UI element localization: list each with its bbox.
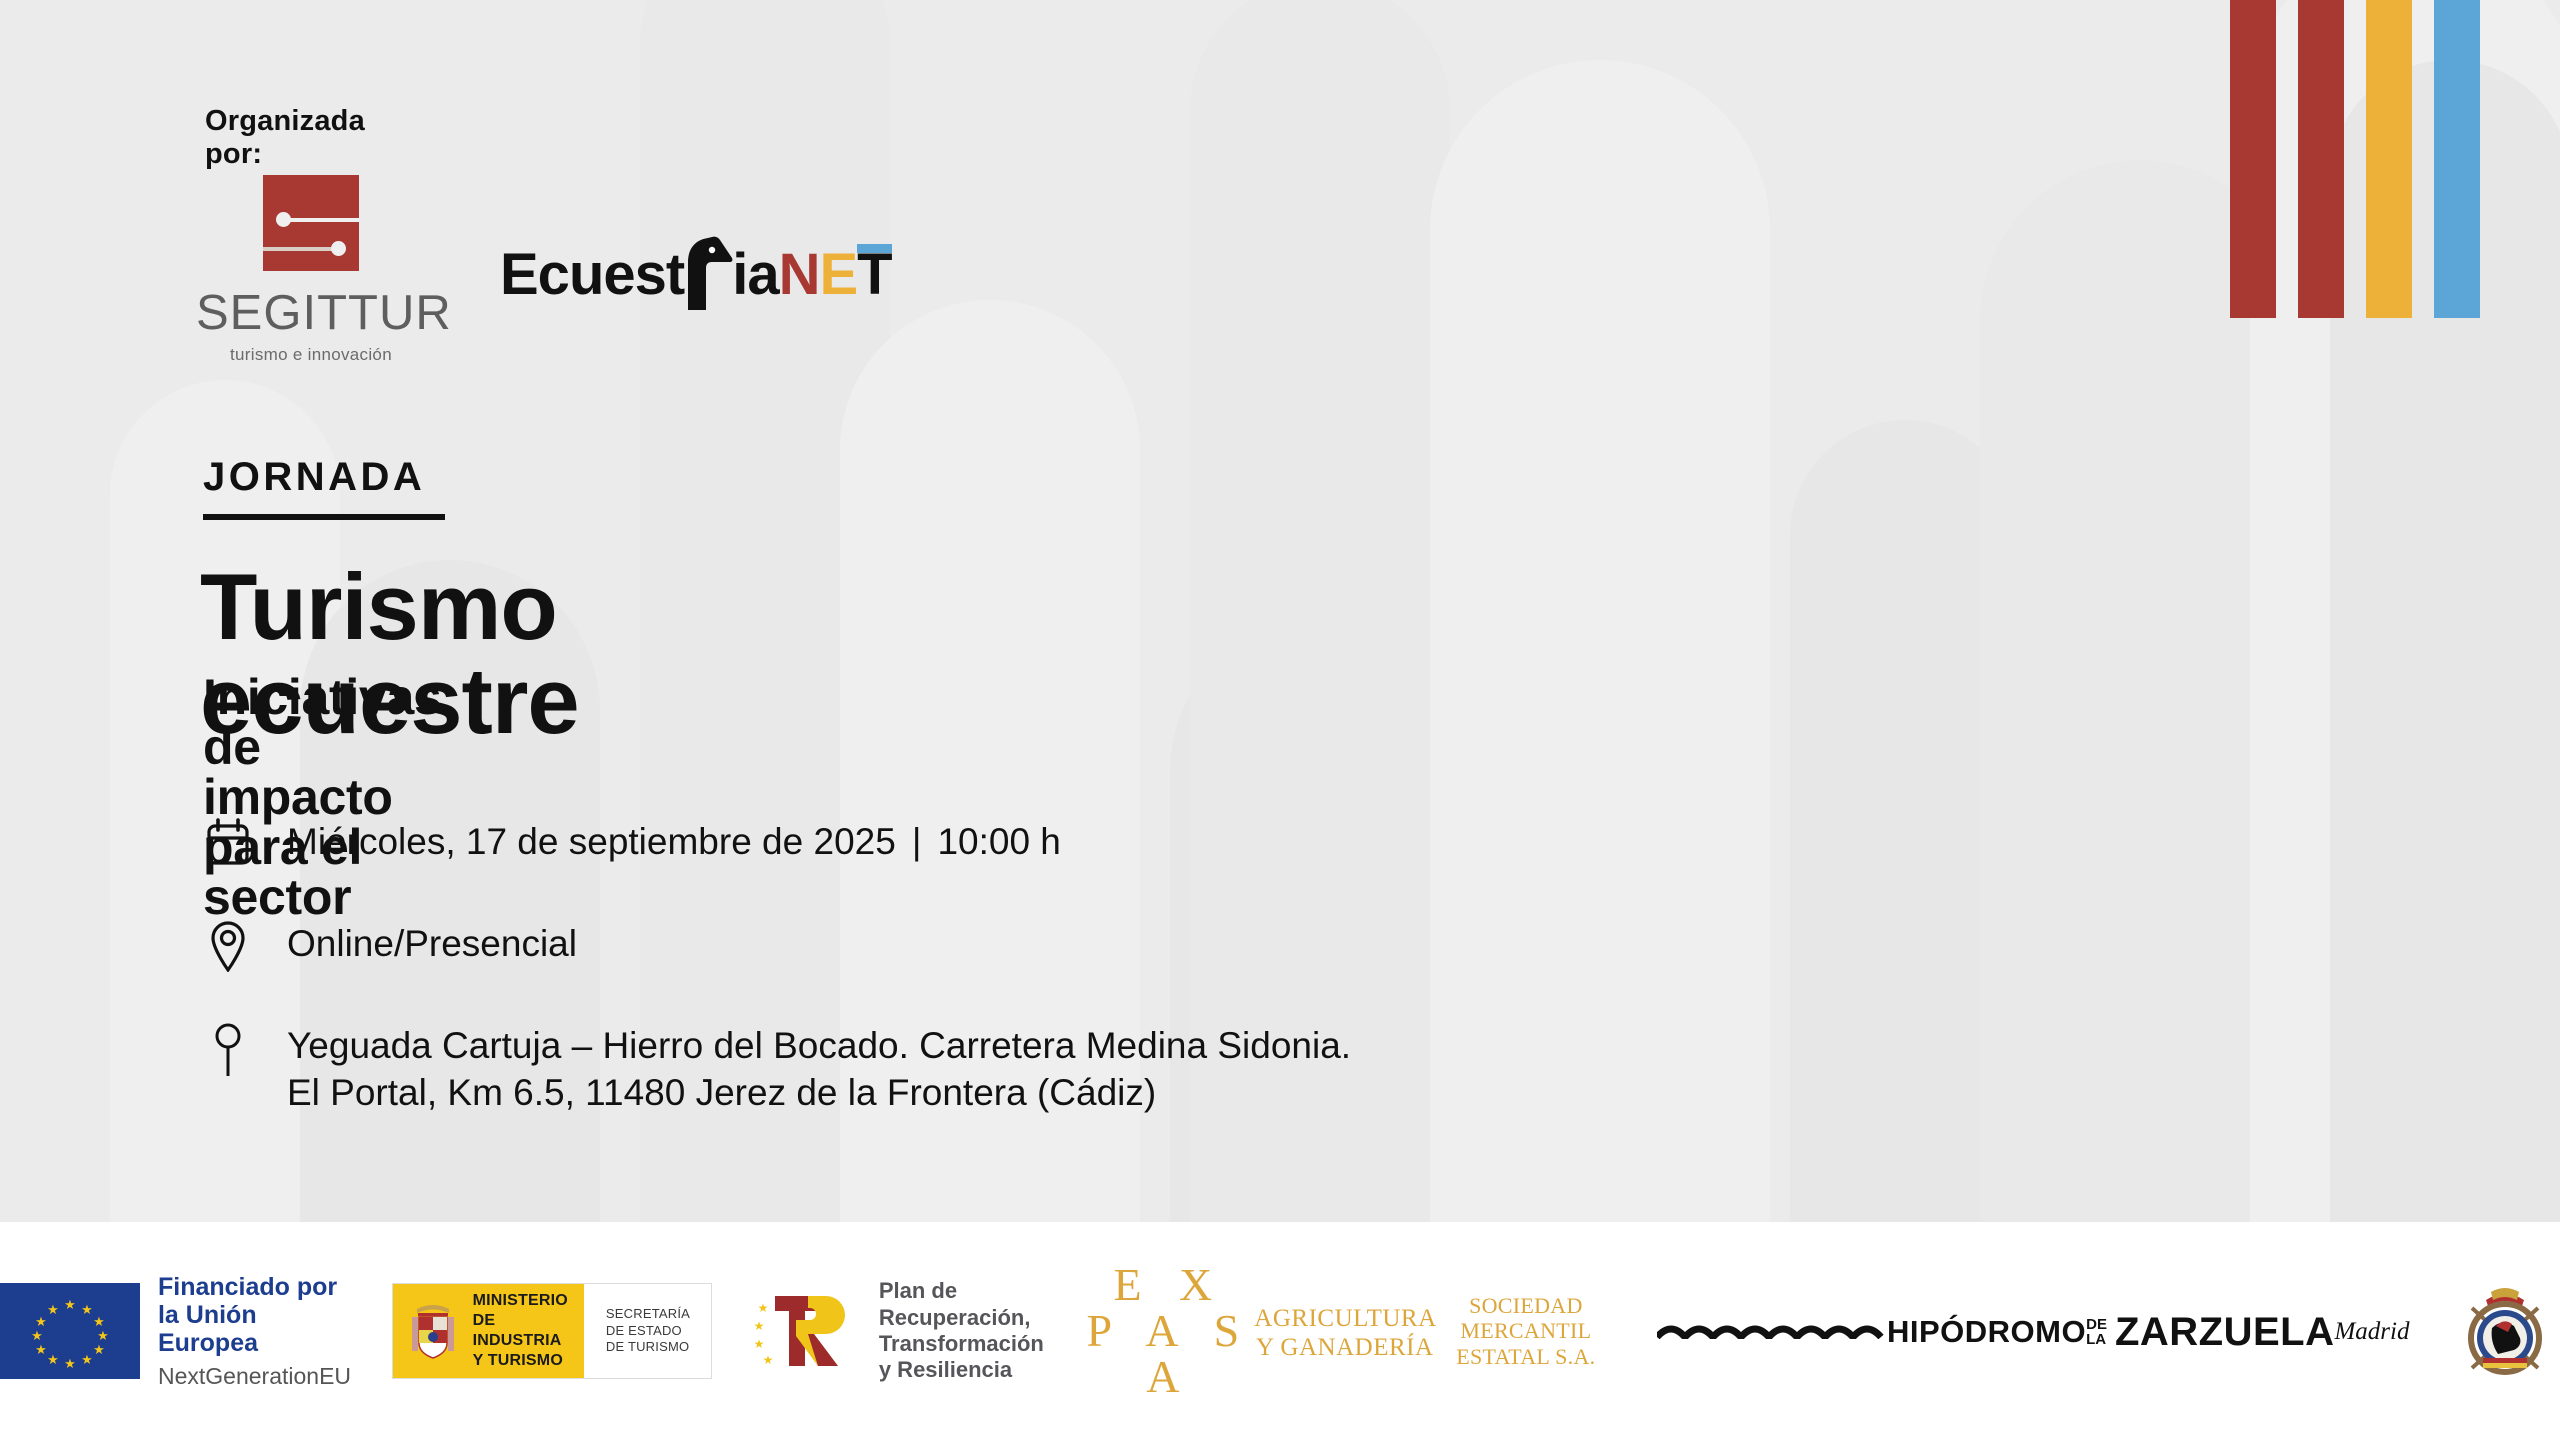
eu-flag-icon: ★ ★ ★ ★ ★ ★ ★ ★ ★ ★ ★ ★ (0, 1283, 140, 1379)
expasa-line2: AGRICULTURA Y GANADERÍA (1254, 1305, 1435, 1363)
ministry-yellow-panel: MINISTERIO DE INDUSTRIA Y TURISMO (393, 1284, 584, 1378)
detail-row-mode: Online/Presencial (205, 920, 577, 972)
eu-funding-line1: Financiado por (158, 1273, 351, 1301)
calendar-icon (205, 818, 251, 866)
svg-text:★: ★ (64, 1297, 76, 1312)
bar-red-1 (2230, 0, 2276, 318)
funding-logos-bar: ★ ★ ★ ★ ★ ★ ★ ★ ★ ★ ★ ★ Fi (0, 1222, 2560, 1440)
organized-by-label: Organizada por: (205, 105, 365, 171)
brand-color-bars (2230, 0, 2480, 318)
recovery-plan-line1: Plan de Recuperación, (879, 1278, 1044, 1331)
svg-text:★: ★ (47, 1302, 59, 1317)
svg-text:★: ★ (753, 1337, 764, 1351)
recovery-plan-line2: Transformación (879, 1331, 1044, 1357)
hipodromo-arch-icon (1657, 1319, 1887, 1339)
bg-arch-5 (1170, 620, 1470, 1320)
hipodromo-prefix2: LA (2086, 1332, 2107, 1347)
hipodromo-prefix: DE LA (2086, 1317, 2107, 1347)
ministry-words: MINISTERIO DE INDUSTRIA Y TURISMO (473, 1291, 568, 1371)
svg-text:★: ★ (757, 1301, 768, 1315)
event-time: 10:00 h (937, 821, 1060, 862)
eu-funding-line3: NextGenerationEU (158, 1363, 351, 1390)
hipodromo-line1: HIPÓDROMO (1887, 1316, 2086, 1347)
segittur-logo: SEGITTUR turismo e innovación (196, 175, 426, 365)
ecuestrianet-letter-e: E (819, 242, 857, 307)
ecuestrianet-letter-t: T (857, 246, 891, 304)
hipodromo-line3: Madrid (2334, 1318, 2409, 1346)
event-address-line2: El Portal, Km 6.5, 11480 Jerez de la Fro… (287, 1069, 1351, 1116)
map-pin-icon (205, 920, 251, 972)
ministry-logo: MINISTERIO DE INDUSTRIA Y TURISMO SECRET… (392, 1283, 713, 1379)
bar-blue (2434, 0, 2480, 318)
recovery-plan-text: Plan de Recuperación, Transformación y R… (879, 1278, 1044, 1384)
secretariat-line1: SECRETARÍA DE ESTADO (606, 1306, 689, 1340)
svg-text:★: ★ (93, 1314, 105, 1329)
svg-text:★: ★ (47, 1352, 59, 1367)
expasa-wordmark: E X P A S A (1084, 1262, 1254, 1400)
recovery-plan-mark-icon: ★ ★ ★ ★ (753, 1288, 863, 1374)
ministry-line3: Y TURISMO (473, 1351, 568, 1371)
svg-text:★: ★ (93, 1342, 105, 1357)
kicker-label: JORNADA (203, 455, 445, 500)
bg-arch-4 (840, 300, 1140, 1320)
bg-arch-8 (1790, 420, 2020, 1320)
bg-arch-3 (640, 0, 890, 1320)
secretariat-panel: SECRETARÍA DE ESTADO DE TURISMO (584, 1284, 711, 1378)
bar-yellow (2366, 0, 2412, 318)
secretariat-words: SECRETARÍA DE ESTADO DE TURISMO (606, 1306, 689, 1357)
bg-arch-7 (1430, 60, 1770, 1320)
horse-head-icon (682, 236, 734, 310)
hipodromo-line2-row: DE LA ZARZUELA (2086, 1312, 2334, 1352)
svg-text:★: ★ (97, 1328, 109, 1343)
segittur-tagline: turismo e innovación (196, 345, 426, 365)
detail-row-address: Yeguada Cartuja – Hierro del Bocado. Car… (205, 1022, 1351, 1117)
hipodromo-logo: HIPÓDROMO DE LA ZARZUELA Madrid (1657, 1310, 2410, 1352)
event-mode: Online/Presencial (287, 920, 577, 967)
secretariat-line2: DE TURISMO (606, 1339, 689, 1356)
segittur-wordmark: SEGITTUR (196, 289, 426, 338)
svg-text:★: ★ (81, 1352, 93, 1367)
event-poster: Organizada por: SEGITTUR turismo e innov… (0, 0, 2560, 1440)
detail-date-text: Miércoles, 17 de septiembre de 2025|10:0… (287, 818, 1061, 865)
event-address-line1: Yeguada Cartuja – Hierro del Bocado. Car… (287, 1022, 1351, 1069)
ministry-line2: DE INDUSTRIA (473, 1311, 568, 1351)
recovery-plan-line3: y Resiliencia (879, 1357, 1044, 1383)
ecuestrianet-letter-n: N (779, 242, 820, 307)
page-subtitle: Iniciativas de impacto para el sector (203, 672, 442, 922)
bg-arch-6 (1190, 0, 1450, 1320)
event-address: Yeguada Cartuja – Hierro del Bocado. Car… (287, 1022, 1351, 1117)
eu-funding-text: Financiado por la Unión Europea NextGene… (158, 1273, 351, 1390)
segittur-mark-icon (263, 175, 359, 271)
ministry-line1: MINISTERIO (473, 1291, 568, 1311)
hipodromo-line2: ZARZUELA (2115, 1312, 2335, 1352)
svg-text:★: ★ (31, 1328, 43, 1343)
detail-row-date: Miércoles, 17 de septiembre de 2025|10:0… (205, 818, 1061, 866)
spain-coat-of-arms-icon (405, 1295, 461, 1367)
kicker-underline (203, 514, 445, 520)
expasa-logo: E X P A S A AGRICULTURA Y GANADERÍA SOCI… (1084, 1262, 1616, 1400)
kicker-block: JORNADA (203, 455, 445, 520)
svg-text:★: ★ (81, 1302, 93, 1317)
ecuestrianet-logo: Ecuest iaNET (500, 236, 892, 310)
svg-text:★: ★ (64, 1356, 76, 1371)
federacion-hipica-espanola-emblem (2450, 1276, 2560, 1386)
recovery-plan-logo: ★ ★ ★ ★ Plan de Recuperación, Transforma… (753, 1278, 1044, 1384)
event-date: Miércoles, 17 de septiembre de 2025 (287, 821, 896, 862)
eu-funding-logo: ★ ★ ★ ★ ★ ★ ★ ★ ★ ★ ★ ★ Fi (0, 1273, 351, 1390)
ecuestrianet-part2: ia (732, 242, 778, 307)
svg-text:★: ★ (35, 1342, 47, 1357)
svg-text:★: ★ (35, 1314, 47, 1329)
expasa-line3: SOCIEDAD MERCANTIL ESTATAL S.A. (1435, 1293, 1616, 1369)
hipodromo-prefix1: DE (2086, 1317, 2107, 1332)
eu-funding-line2: la Unión Europea (158, 1301, 351, 1357)
ecuestrianet-part1: Ecuest (500, 242, 684, 307)
bg-arch-9 (1980, 160, 2300, 1320)
svg-text:★: ★ (753, 1319, 764, 1333)
location-marker-icon (205, 1022, 251, 1078)
svg-text:★: ★ (762, 1353, 773, 1367)
bar-red-2 (2298, 0, 2344, 318)
date-time-separator: | (896, 821, 938, 862)
